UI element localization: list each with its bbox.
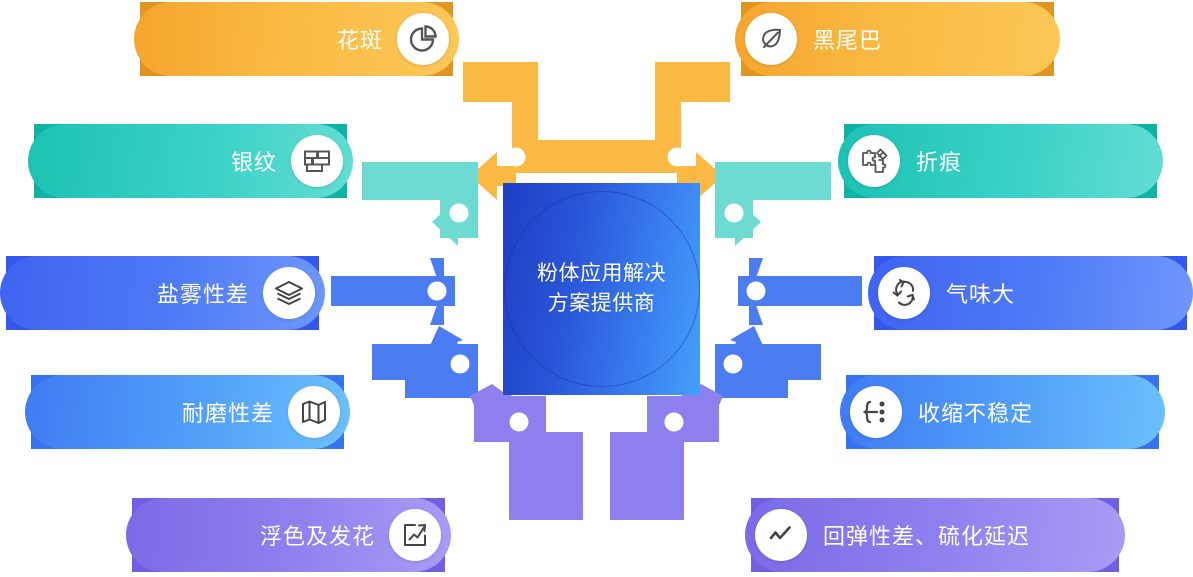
sitemap-icon [850,386,902,438]
connector-right-5 [610,384,723,520]
pill-body: 气味大 [868,256,1193,330]
node-label: 气味大 [946,277,1015,309]
pie-chart-icon [397,13,449,65]
map-icon [288,386,340,438]
pill-body: 回弹性差、硫化延迟 [745,498,1125,572]
node-left-5[interactable]: 浮色及发花 [126,498,451,572]
zigzag-line-icon [755,509,807,561]
connector-left-1 [463,62,598,200]
node-left-3[interactable]: 盐雾性差 [0,256,325,330]
puzzle-icon [848,135,900,187]
pill-body: 盐雾性差 [0,256,325,330]
center-label: 粉体应用解决 方案提供商 [503,259,700,319]
node-right-2[interactable]: 折痕 [838,124,1163,198]
node-left-1[interactable]: 花斑 [134,2,459,76]
node-right-1[interactable]: 黑尾巴 [735,2,1060,76]
connector-right-2 [715,162,831,246]
infographic-canvas: 粉体应用解决 方案提供商 花斑 银纹 [0,0,1193,577]
node-right-3[interactable]: 气味大 [868,256,1193,330]
connector-left-2 [362,162,478,246]
node-label: 折痕 [916,145,962,177]
node-right-5[interactable]: 回弹性差、硫化延迟 [745,498,1125,572]
connector-right-4 [715,326,821,398]
pill-body: 花斑 [134,2,459,76]
node-label: 回弹性差、硫化延迟 [823,519,1030,551]
center-node: 粉体应用解决 方案提供商 [503,183,700,395]
connector-left-4 [372,326,478,398]
pill-body: 浮色及发花 [126,498,451,572]
pill-body: 收缩不稳定 [840,375,1165,449]
recycle-icon [878,267,930,319]
layers-icon [263,267,315,319]
node-label: 浮色及发花 [260,519,375,551]
pill-body: 折痕 [838,124,1163,198]
connector-right-3 [738,258,862,325]
node-label: 收缩不稳定 [918,396,1033,428]
pill-body: 黑尾巴 [735,2,1060,76]
node-label: 黑尾巴 [813,23,882,55]
pill-body: 耐磨性差 [25,375,350,449]
center-label-line1: 粉体应用解决 [503,259,700,289]
node-label: 耐磨性差 [182,396,274,428]
trend-chart-icon [389,509,441,561]
node-label: 银纹 [231,145,277,177]
connector-right-1 [595,62,730,200]
connector-left-5 [470,384,583,520]
leaf-icon [745,13,797,65]
node-label: 盐雾性差 [157,277,249,309]
center-label-line2: 方案提供商 [503,289,700,319]
node-label: 花斑 [337,23,383,55]
node-left-4[interactable]: 耐磨性差 [25,375,350,449]
pill-body: 银纹 [28,124,353,198]
brick-wall-icon [291,135,343,187]
node-left-2[interactable]: 银纹 [28,124,353,198]
connector-left-3 [331,258,455,325]
node-right-4[interactable]: 收缩不稳定 [840,375,1165,449]
